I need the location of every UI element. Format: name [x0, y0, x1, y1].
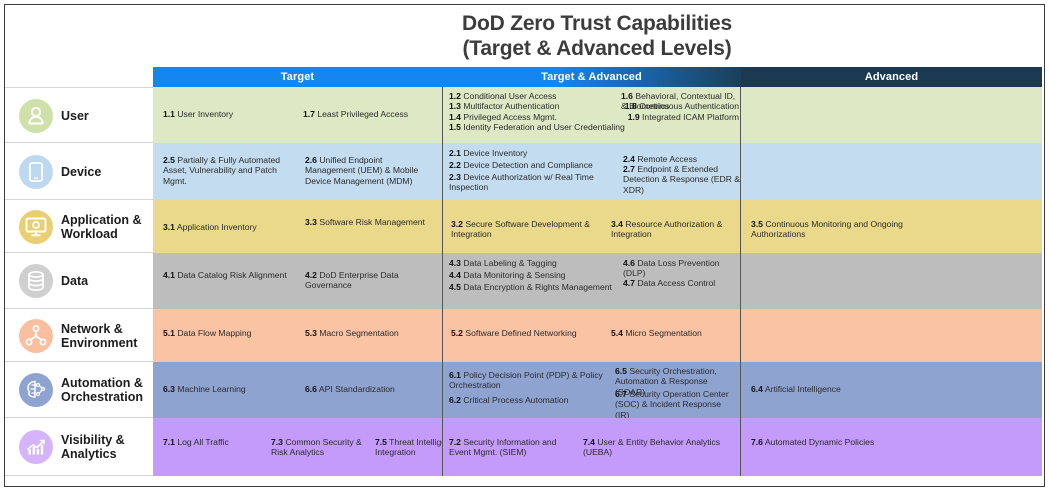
capability-row-application-workload: 3.1 Application Inventory3.3 Software Ri… [153, 200, 1042, 253]
capability-4-3[interactable]: 4.3 Data Labeling & Tagging [449, 258, 619, 268]
capability-6-3[interactable]: 6.3 Machine Learning [163, 384, 293, 394]
cell-network-environment-target: 5.1 Data Flow Mapping5.3 Macro Segmentat… [153, 309, 442, 362]
capability-number: 2.3 [449, 172, 461, 182]
cell-network-environment-advanced [741, 309, 1042, 362]
pillar-network-environment[interactable]: Network &Environment [5, 309, 153, 362]
capability-number: 4.2 [305, 270, 317, 280]
capability-number: 4.3 [449, 258, 461, 268]
capability-label: Data Access Control [635, 278, 715, 288]
capability-row-automation-orchestration: 6.3 Machine Learning6.6 API Standardizat… [153, 362, 1042, 418]
capability-label: Multifactor Authentication [461, 101, 559, 111]
capability-number: 6.2 [449, 395, 461, 405]
capabilities-table: UserDeviceApplication &WorkloadDataNetwo… [5, 67, 1042, 486]
cell-device-target-advanced: 2.1 Device Inventory2.2 Device Detection… [442, 143, 741, 200]
capability-1-3[interactable]: 1.3 Multifactor Authentication [449, 101, 617, 111]
capability-1-7[interactable]: 1.7 Least Privileged Access [303, 109, 435, 119]
capability-7-4[interactable]: 7.4 User & Entity Behavior Analytics (UE… [583, 437, 733, 458]
capability-label: DoD Enterprise Data Governance [305, 270, 399, 290]
capability-label: Device Inventory [461, 148, 527, 158]
capability-number: 4.5 [449, 282, 461, 292]
capability-label: Data Flow Mapping [175, 328, 251, 338]
capability-number: 1.2 [449, 91, 461, 101]
cell-network-environment-target-advanced: 5.2 Software Defined Networking5.4 Micro… [442, 309, 741, 362]
capability-number: 5.3 [305, 328, 317, 338]
capability-number: 7.6 [751, 437, 763, 447]
application-icon [19, 210, 53, 244]
capability-number: 2.1 [449, 148, 461, 158]
capability-label: Macro Segmentation [317, 328, 399, 338]
capability-number: 2.4 [623, 154, 635, 164]
capability-number: 2.2 [449, 160, 461, 170]
title-line-1: DoD Zero Trust Capabilities [462, 12, 732, 35]
pillar-data[interactable]: Data [5, 253, 153, 309]
capability-7-3[interactable]: 7.3 Common Security & Risk Analytics [271, 437, 371, 458]
capability-number: 7.3 [271, 437, 283, 447]
capability-label: Security Operation Center (SOC) & Incide… [615, 389, 729, 420]
pillar-label: User [61, 109, 89, 123]
database-icon [19, 264, 53, 298]
capability-number: 6.1 [449, 370, 461, 380]
capability-label: Conditional User Access [461, 91, 557, 101]
capability-3-1[interactable]: 3.1 Application Inventory [163, 222, 303, 232]
capability-7-1[interactable]: 7.1 Log All Traffic [163, 437, 268, 447]
cell-visibility-analytics-target: 7.1 Log All Traffic7.3 Common Security &… [153, 418, 442, 476]
capability-4-5[interactable]: 4.5 Data Encryption & Rights Management [449, 282, 619, 292]
cell-automation-orchestration-target: 6.3 Machine Learning6.6 API Standardizat… [153, 362, 442, 418]
capability-label: API Standardization [317, 384, 395, 394]
capability-1-8[interactable]: 1.8 Continuous Authentication [621, 101, 739, 111]
capability-number: 7.1 [163, 437, 175, 447]
column-header-target: Target [153, 67, 442, 87]
capability-number: 6.5 [615, 366, 627, 376]
analytics-icon [19, 430, 53, 464]
capability-label: Software Risk Management [317, 217, 425, 227]
capability-6-7[interactable]: 6.7 Security Operation Center (SOC) & In… [615, 389, 737, 420]
capability-number: 2.5 [163, 155, 175, 165]
capability-3-5[interactable]: 3.5 Continuous Monitoring and Ongoing Au… [751, 219, 921, 240]
capability-7-6[interactable]: 7.6 Automated Dynamic Policies [751, 437, 921, 447]
pillar-label-column: UserDeviceApplication &WorkloadDataNetwo… [5, 67, 153, 486]
capability-label: Data Labeling & Tagging [461, 258, 557, 268]
capability-5-4[interactable]: 5.4 Micro Segmentation [611, 328, 736, 338]
capability-label: Security Information and Event Mgmt. (SI… [449, 437, 557, 457]
cell-device-target: 2.5 Partially & Fully Automated Asset, V… [153, 143, 442, 200]
pillar-application-workload[interactable]: Application &Workload [5, 200, 153, 253]
capability-1-4[interactable]: 1.4 Privileged Access Mgmt. [449, 112, 617, 122]
capability-number: 1.6 [621, 91, 633, 101]
cell-data-advanced [741, 253, 1042, 309]
capability-number: 7.4 [583, 437, 595, 447]
column-header-advanced: Advanced [741, 67, 1042, 87]
capability-label: Least Privileged Access [315, 109, 408, 119]
capability-label: Integrated ICAM Platform [640, 112, 739, 122]
capability-3-3[interactable]: 3.3 Software Risk Management [305, 217, 425, 227]
capability-4-6[interactable]: 4.6 Data Loss Prevention (DLP) [623, 258, 741, 279]
capability-3-2[interactable]: 3.2 Secure Software Development & Integr… [451, 219, 601, 240]
cell-data-target: 4.1 Data Catalog Risk Alignment4.2 DoD E… [153, 253, 442, 309]
capability-label: User & Entity Behavior Analytics (UEBA) [583, 437, 720, 457]
capability-label: Endpoint & Extended Detection & Response… [623, 164, 740, 195]
capability-number: 2.6 [305, 155, 317, 165]
capability-2-4[interactable]: 2.4 Remote Access [623, 154, 741, 164]
cell-automation-orchestration-advanced: 6.4 Artificial Intelligence [741, 362, 1042, 418]
network-icon [19, 319, 53, 353]
pillar-automation-orchestration[interactable]: Automation &Orchestration [5, 362, 153, 418]
capability-1-9[interactable]: 1.9 Integrated ICAM Platform [621, 112, 739, 122]
capability-label: Data Encryption & Rights Management [461, 282, 612, 292]
cell-application-workload-advanced: 3.5 Continuous Monitoring and Ongoing Au… [741, 200, 1042, 253]
pillar-device[interactable]: Device [5, 143, 153, 200]
capability-number: 3.1 [163, 222, 175, 232]
capability-number: 5.2 [451, 328, 463, 338]
capability-label: Device Detection and Compliance [461, 160, 593, 170]
capability-label: Remote Access [635, 154, 697, 164]
capability-label: Common Security & Risk Analytics [271, 437, 362, 457]
capability-row-data: 4.1 Data Catalog Risk Alignment4.2 DoD E… [153, 253, 1042, 309]
capability-row-visibility-analytics: 7.1 Log All Traffic7.3 Common Security &… [153, 418, 1042, 476]
capability-5-2[interactable]: 5.2 Software Defined Networking [451, 328, 591, 338]
capability-2-1[interactable]: 2.1 Device Inventory [449, 148, 619, 158]
capability-label: Secure Software Development & Integratio… [451, 219, 590, 239]
cell-application-workload-target: 3.1 Application Inventory3.3 Software Ri… [153, 200, 442, 253]
title-line-2: (Target & Advanced Levels) [157, 36, 1037, 61]
capability-number: 5.4 [611, 328, 623, 338]
capability-number: 6.3 [163, 384, 175, 394]
capability-number: 6.7 [615, 389, 627, 399]
cell-application-workload-target-advanced: 3.2 Secure Software Development & Integr… [442, 200, 741, 253]
user-icon [19, 99, 53, 133]
capability-number: 1.4 [449, 112, 461, 122]
capability-label: Micro Segmentation [623, 328, 702, 338]
capability-label: Log All Traffic [175, 437, 229, 447]
capability-number: 1.9 [628, 112, 640, 122]
capability-2-7[interactable]: 2.7 Endpoint & Extended Detection & Resp… [623, 164, 741, 195]
capability-2-6[interactable]: 2.6 Unified Endpoint Management (UEM) & … [305, 155, 433, 186]
capability-4-1[interactable]: 4.1 Data Catalog Risk Alignment [163, 270, 293, 280]
capability-label: Data Loss Prevention (DLP) [623, 258, 720, 278]
capability-5-3[interactable]: 5.3 Macro Segmentation [305, 328, 435, 338]
capability-label: Continuous Monitoring and Ongoing Author… [751, 219, 903, 239]
automation-brain-icon [19, 373, 53, 407]
capability-label: Policy Decision Point (PDP) & Policy Orc… [449, 370, 603, 390]
capability-label: Identity Federation and User Credentiali… [461, 122, 625, 132]
capability-label: Continuous Authentication [637, 101, 739, 111]
cell-automation-orchestration-target-advanced: 6.1 Policy Decision Point (PDP) & Policy… [442, 362, 741, 418]
capability-2-2[interactable]: 2.2 Device Detection and Compliance [449, 160, 619, 170]
capability-4-4[interactable]: 4.4 Data Monitoring & Sensing [449, 270, 619, 280]
capability-label: Artificial Intelligence [763, 384, 841, 394]
pillar-user[interactable]: User [5, 87, 153, 143]
capability-label: Partially & Fully Automated Asset, Vulne… [163, 155, 280, 186]
capability-label: Resource Authorization & Integration [611, 219, 722, 239]
page-title: DoD Zero Trust Capabilities (Target & Ad… [157, 11, 1037, 61]
capability-label: Data Catalog Risk Alignment [175, 270, 287, 280]
cell-user-advanced [741, 87, 1042, 143]
capability-6-4[interactable]: 6.4 Artificial Intelligence [751, 384, 921, 394]
capability-label: Software Defined Networking [463, 328, 577, 338]
capability-label: Application Inventory [175, 222, 257, 232]
capability-label: Data Monitoring & Sensing [461, 270, 566, 280]
tablet-icon [19, 155, 53, 189]
capability-number: 7.2 [449, 437, 461, 447]
pillar-label: Network &Environment [61, 322, 137, 350]
capability-row-user: 1.1 User Inventory1.7 Least Privileged A… [153, 87, 1042, 143]
capability-label: Unified Endpoint Management (UEM) & Mobi… [305, 155, 418, 186]
capability-row-network-environment: 5.1 Data Flow Mapping5.3 Macro Segmentat… [153, 309, 1042, 362]
capability-number: 1.5 [449, 122, 461, 132]
capability-1-2[interactable]: 1.2 Conditional User Access [449, 91, 617, 101]
capability-label: Automated Dynamic Policies [763, 437, 874, 447]
capability-number: 3.5 [751, 219, 763, 229]
capability-grid: Target Target & Advanced Advanced 1.1 Us… [153, 67, 1042, 486]
capability-7-2[interactable]: 7.2 Security Information and Event Mgmt.… [449, 437, 574, 458]
pillar-label: Application &Workload [61, 213, 142, 241]
pillar-label: Visibility &Analytics [61, 433, 125, 461]
capability-label: Device Authorization w/ Real Time Inspec… [449, 172, 594, 192]
capability-number: 6.4 [751, 384, 763, 394]
capability-number: 6.6 [305, 384, 317, 394]
capability-1-1[interactable]: 1.1 User Inventory [163, 109, 293, 119]
pillar-label: Data [61, 274, 88, 288]
capability-2-3[interactable]: 2.3 Device Authorization w/ Real Time In… [449, 172, 619, 193]
capability-number: 1.3 [449, 101, 461, 111]
capability-number: 7.5 [375, 437, 387, 447]
column-header-target-advanced: Target & Advanced [442, 67, 741, 87]
capability-label: Machine Learning [175, 384, 246, 394]
capability-row-device: 2.5 Partially & Fully Automated Asset, V… [153, 143, 1042, 200]
capability-number: 1.7 [303, 109, 315, 119]
capability-number: 4.7 [623, 278, 635, 288]
capability-number: 4.6 [623, 258, 635, 268]
cell-visibility-analytics-target-advanced: 7.2 Security Information and Event Mgmt.… [442, 418, 741, 476]
capability-number: 3.2 [451, 219, 463, 229]
capability-number: 3.3 [305, 217, 317, 227]
pillar-label: Automation &Orchestration [61, 376, 143, 404]
cell-user-target: 1.1 User Inventory1.7 Least Privileged A… [153, 87, 442, 143]
cell-user-target-advanced: 1.2 Conditional User Access1.3 Multifact… [442, 87, 741, 143]
capability-6-1[interactable]: 6.1 Policy Decision Point (PDP) & Policy… [449, 370, 609, 391]
capability-number: 5.1 [163, 328, 175, 338]
capability-1-5[interactable]: 1.5 Identity Federation and User Credent… [449, 122, 679, 132]
capability-5-1[interactable]: 5.1 Data Flow Mapping [163, 328, 293, 338]
capability-3-4[interactable]: 3.4 Resource Authorization & Integration [611, 219, 731, 240]
pillar-visibility-analytics[interactable]: Visibility &Analytics [5, 418, 153, 476]
capability-6-2[interactable]: 6.2 Critical Process Automation [449, 395, 609, 405]
capability-number: 4.4 [449, 270, 461, 280]
capability-number: 4.1 [163, 270, 175, 280]
capability-number: 1.1 [163, 109, 175, 119]
pillar-label: Device [61, 165, 101, 179]
capability-4-7[interactable]: 4.7 Data Access Control [623, 278, 741, 288]
capability-4-2[interactable]: 4.2 DoD Enterprise Data Governance [305, 270, 435, 291]
capability-poster: DoD Zero Trust Capabilities (Target & Ad… [4, 4, 1045, 487]
capability-number: 1.8 [625, 101, 637, 111]
capability-number: 3.4 [611, 219, 623, 229]
capability-6-6[interactable]: 6.6 API Standardization [305, 384, 435, 394]
capability-label: Privileged Access Mgmt. [461, 112, 557, 122]
cell-device-advanced [741, 143, 1042, 200]
capability-2-5[interactable]: 2.5 Partially & Fully Automated Asset, V… [163, 155, 298, 186]
cell-visibility-analytics-advanced: 7.6 Automated Dynamic Policies [741, 418, 1042, 476]
capability-label: Critical Process Automation [461, 395, 568, 405]
capability-number: 2.7 [623, 164, 635, 174]
cell-data-target-advanced: 4.3 Data Labeling & Tagging4.4 Data Moni… [442, 253, 741, 309]
capability-label: User Inventory [175, 109, 233, 119]
